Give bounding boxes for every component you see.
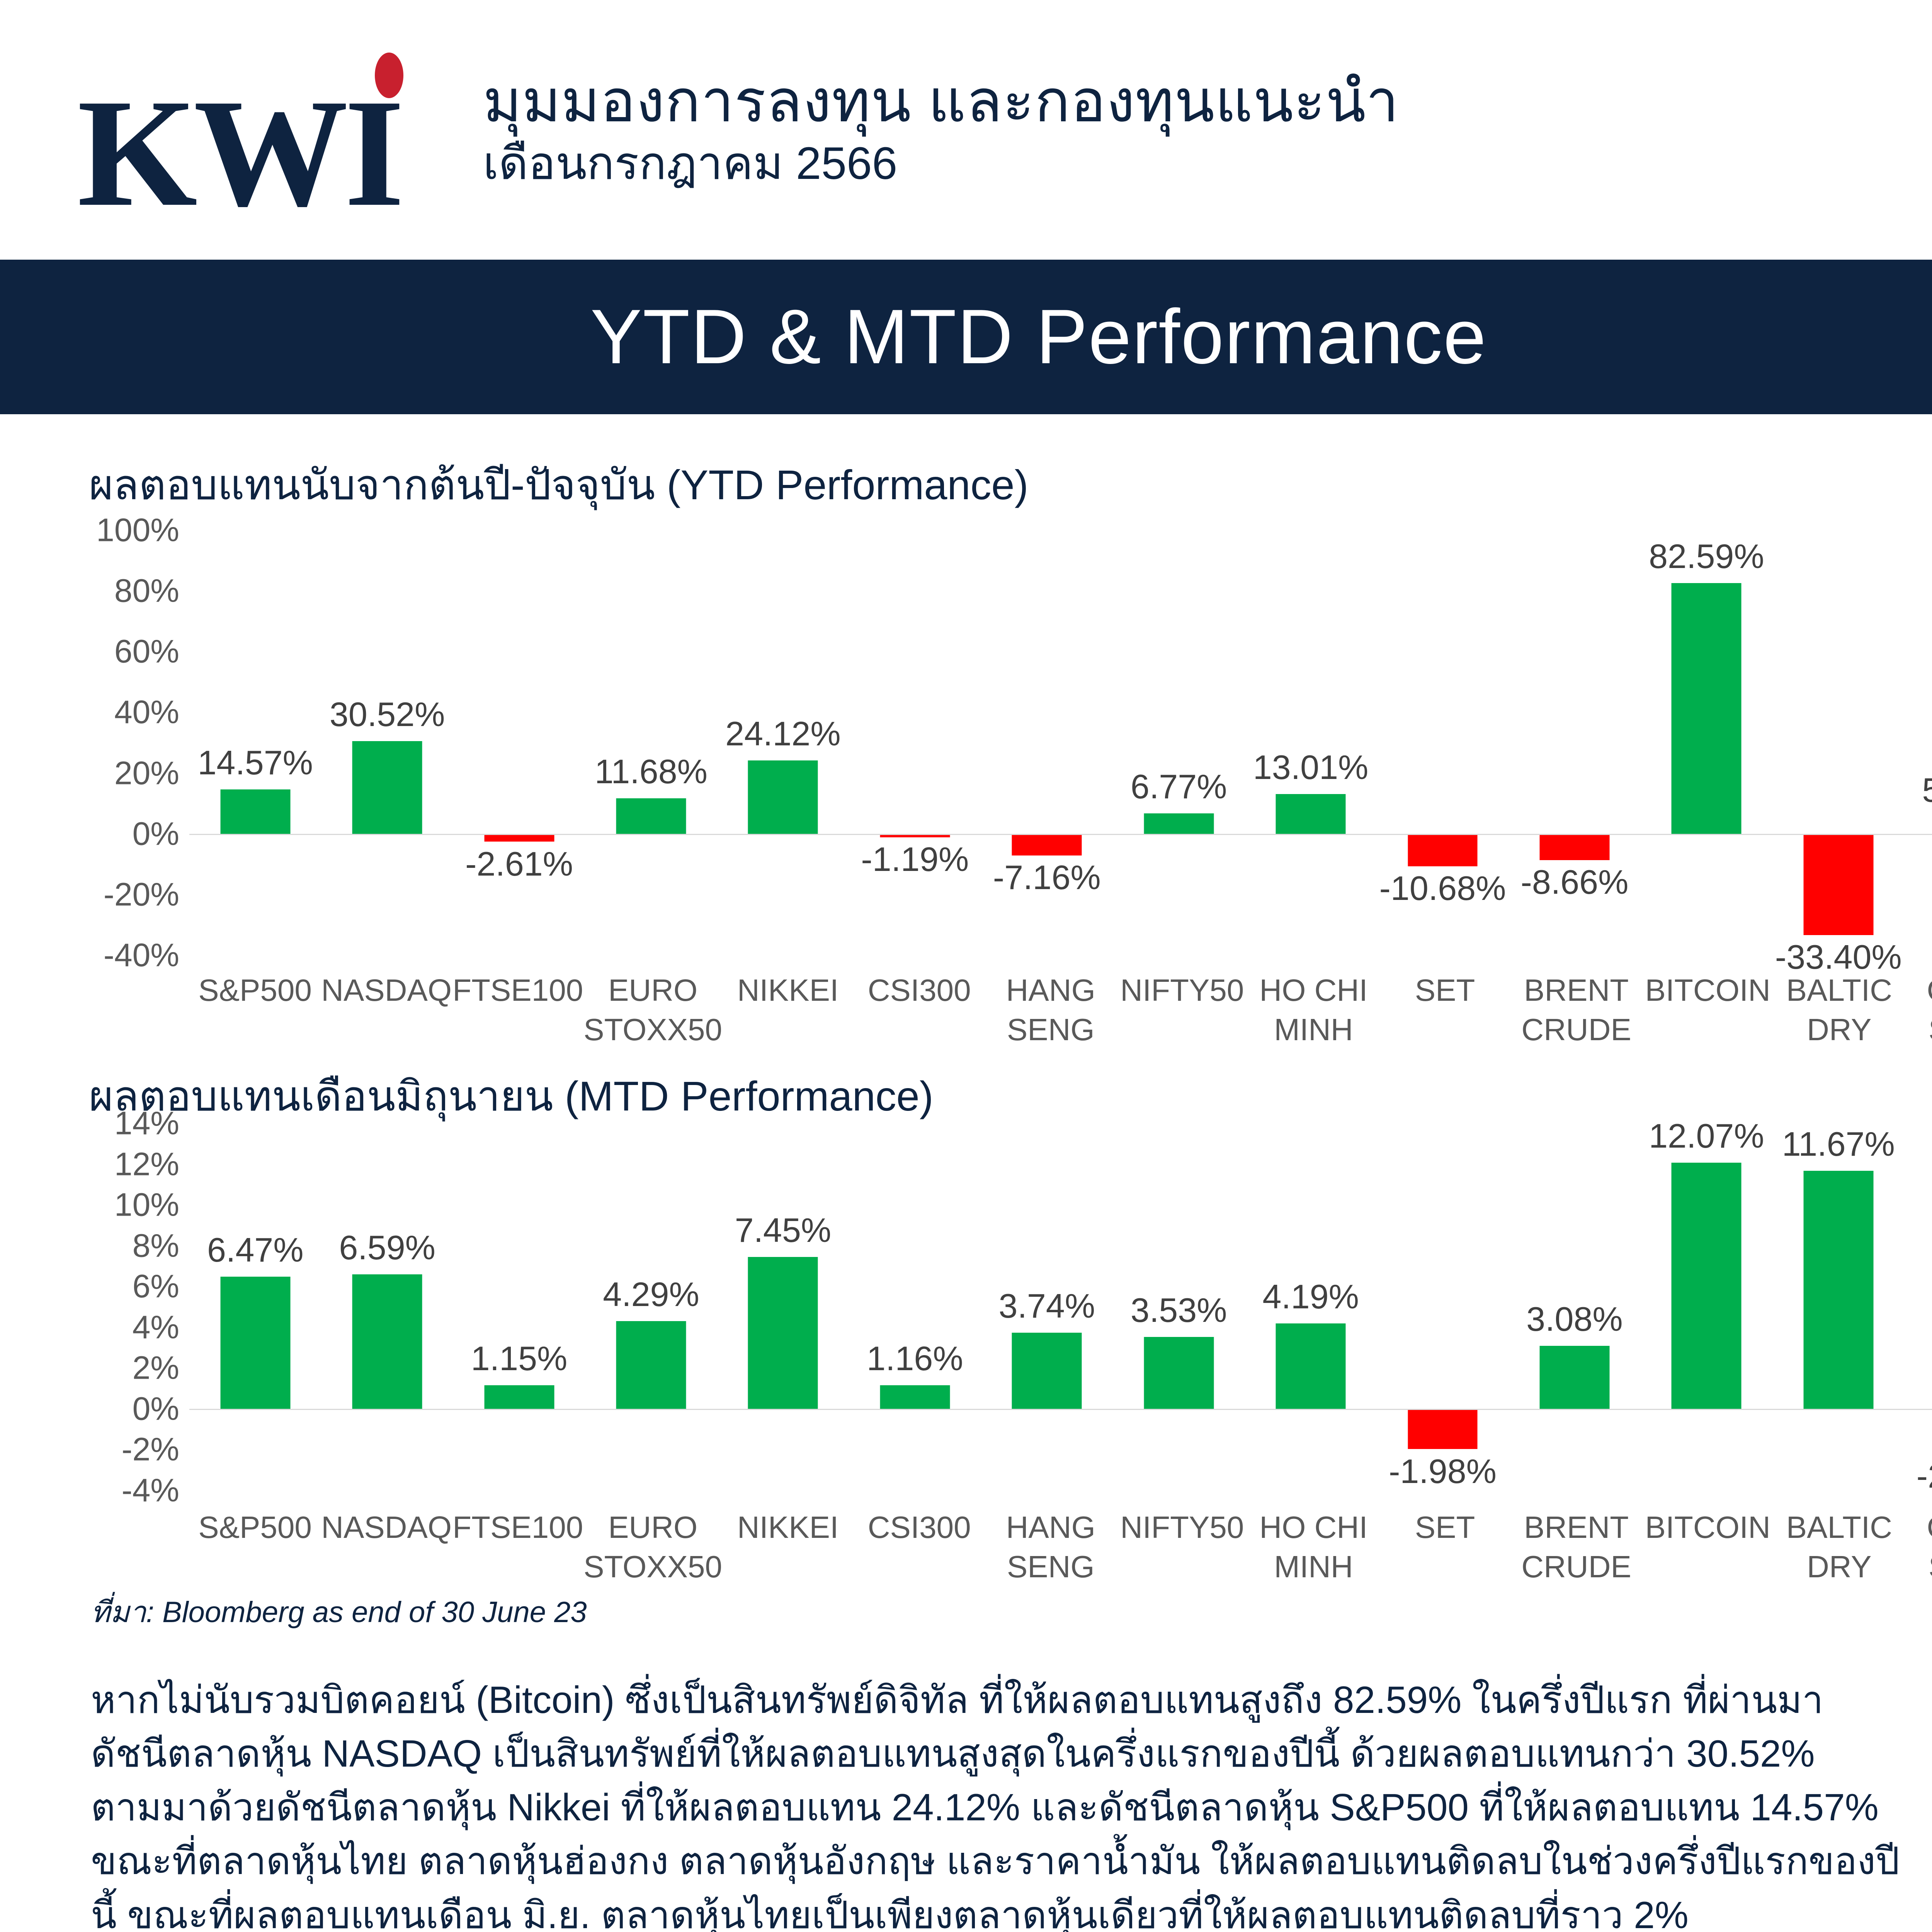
bar-column: -2.61%: [453, 530, 585, 955]
x-axis-category-label: GOLDSPOT: [1905, 971, 1932, 1050]
bar-column: 6.77%: [1113, 530, 1245, 955]
bar: [352, 1274, 422, 1409]
bar: [1408, 1409, 1478, 1449]
x-axis-category-label: SET: [1379, 971, 1510, 1050]
x-axis-category-label: EUROSTOXX50: [583, 971, 722, 1050]
x-axis-category-label: BRENTCRUDE: [1511, 971, 1642, 1050]
bar-value-label: 3.08%: [1526, 1299, 1623, 1339]
bar-value-label: -1.19%: [861, 840, 969, 879]
bar-column: 24.12%: [717, 530, 849, 955]
y-axis-tick: 20%: [114, 754, 189, 792]
bar-column: 7.45%: [717, 1123, 849, 1490]
bar-value-label: 12.07%: [1649, 1116, 1764, 1156]
y-axis-tick: 4%: [133, 1308, 189, 1346]
x-axis-category-label: BALTICDRY: [1774, 1508, 1905, 1587]
bar-column: -33.40%: [1772, 530, 1904, 955]
bar-value-label: -10.68%: [1379, 869, 1506, 908]
y-axis-tick: -4%: [122, 1472, 189, 1509]
bar-column: -8.66%: [1509, 530, 1640, 955]
y-axis-tick: -20%: [104, 876, 189, 913]
paragraph-line: ตามมาด้วยดัชนีตลาดหุ้น Nikkei ที่ให้ผลตอ…: [91, 1781, 1932, 1834]
bar-value-label: 4.29%: [603, 1275, 699, 1314]
bar-value-label: 13.01%: [1253, 748, 1368, 787]
bar: [1803, 834, 1873, 935]
bar-value-label: 11.68%: [595, 752, 707, 791]
bar: [880, 1385, 950, 1409]
bar-column: -7.16%: [981, 530, 1113, 955]
bar-column: -10.68%: [1377, 530, 1509, 955]
paragraph-line: ขณะที่ตลาดหุ้นไทย ตลาดหุ้นฮ่องกง ตลาดหุ้…: [91, 1834, 1932, 1888]
y-axis-tick: 0%: [133, 815, 189, 852]
bar-value-label: -2.21%: [1917, 1456, 1932, 1496]
x-axis-category-label: NIKKEI: [722, 1508, 854, 1587]
y-axis-tick: 6%: [133, 1268, 189, 1305]
bar-value-label: -2.61%: [465, 844, 573, 884]
y-axis-tick: 100%: [96, 512, 189, 549]
bar-column: 13.01%: [1245, 530, 1376, 955]
bar-value-label: 3.53%: [1131, 1291, 1227, 1330]
summary-paragraph: หากไม่นับรวมบิตคอยน์ (Bitcoin) ซึ่งเป็นส…: [91, 1673, 1932, 1932]
bar-column: 6.47%: [189, 1123, 321, 1490]
bar-value-label: 24.12%: [725, 714, 840, 753]
zero-axis-line: [189, 1409, 1932, 1410]
y-axis-tick: -2%: [122, 1431, 189, 1468]
x-axis-category-label: SET: [1379, 1508, 1510, 1587]
x-axis-category-label: NASDAQ: [321, 1508, 452, 1587]
bar-column: 11.68%: [585, 530, 717, 955]
header-title-block: มุมมองการลงทุน และกองทุนแนะนำ เดือนกรกฎา…: [475, 68, 1932, 191]
bar-column: 4.19%: [1245, 1123, 1376, 1490]
bar-value-label: 6.59%: [339, 1228, 435, 1267]
page-subtitle: เดือนกรกฎาคม 2566: [483, 136, 1932, 191]
page-title: มุมมองการลงทุน และกองทุนแนะนำ: [483, 68, 1932, 134]
bar: [748, 1257, 818, 1409]
bar: [1408, 834, 1478, 866]
bar-value-label: 6.47%: [207, 1230, 304, 1270]
y-axis-tick: 80%: [114, 572, 189, 610]
bar-column: 6.59%: [321, 1123, 453, 1490]
x-axis-category-label: S&P500: [189, 971, 321, 1050]
bar-column: -1.19%: [849, 530, 981, 955]
ytd-chart-section: ผลตอบแทนนับจากต้นปี-ปัจจุบัน (YTD Perfor…: [0, 414, 1932, 1044]
y-axis-tick: 12%: [114, 1145, 189, 1183]
ytd-x-axis: S&P500NASDAQFTSE100EUROSTOXX50NIKKEICSI3…: [189, 971, 1932, 1050]
x-axis-category-label: HANGSENG: [985, 1508, 1116, 1587]
logo-wordmark: KWI: [77, 76, 401, 230]
bar-column: 4.29%: [585, 1123, 717, 1490]
bar: [1803, 1171, 1873, 1409]
bar-column: -1.98%: [1377, 1123, 1509, 1490]
paragraph-line: ดัชนีตลาดหุ้น NASDAQ เป็นสินทรัพย์ที่ให้…: [91, 1727, 1932, 1781]
x-axis-category-label: NIFTY50: [1116, 971, 1248, 1050]
x-axis-category-label: HANGSENG: [985, 971, 1116, 1050]
bar: [484, 1385, 554, 1409]
y-axis-tick: 10%: [114, 1186, 189, 1224]
bar-value-label: 11.67%: [1782, 1124, 1895, 1164]
x-axis-category-label: S&P500: [189, 1508, 321, 1587]
y-axis-tick: 40%: [114, 694, 189, 731]
banner-title: YTD & MTD Performance: [590, 293, 1487, 381]
bar-value-label: 7.45%: [735, 1211, 832, 1250]
x-axis-category-label: BITCOIN: [1642, 971, 1774, 1050]
bar: [616, 798, 686, 834]
bar-column: 82.59%: [1641, 530, 1772, 955]
y-axis-tick: 60%: [114, 633, 189, 670]
bar: [1012, 834, 1082, 855]
bar-value-label: 3.74%: [998, 1286, 1095, 1326]
logo-dot-icon: [375, 53, 403, 98]
bar: [1672, 583, 1742, 834]
mtd-plot-area: 14%12%10%8%6%4%2%0%-2%-4% 6.47%6.59%1.15…: [189, 1123, 1932, 1490]
y-axis-tick: -40%: [104, 937, 189, 974]
bar-column: -2.21%: [1904, 1123, 1932, 1490]
bar-value-label: -7.16%: [993, 858, 1101, 897]
paragraph-line: หากไม่นับรวมบิตคอยน์ (Bitcoin) ซึ่งเป็นส…: [91, 1673, 1932, 1727]
mtd-chart-title: ผลตอบแทนเดือนมิถุนายน (MTD Performance): [89, 1063, 934, 1129]
bar: [220, 1277, 290, 1408]
ytd-chart-title: ผลตอบแทนนับจากต้นปี-ปัจจุบัน (YTD Perfor…: [89, 451, 1029, 518]
x-axis-category-label: FTSE100: [452, 1508, 583, 1587]
bar-value-label: -8.66%: [1521, 862, 1629, 902]
bar-column: 3.53%: [1113, 1123, 1245, 1490]
bar-value-label: 5.54%: [1922, 770, 1932, 810]
y-axis-tick: 14%: [114, 1105, 189, 1142]
source-note: ที่มา: Bloomberg as end of 30 June 23: [91, 1589, 587, 1635]
bar-column: 30.52%: [321, 530, 453, 955]
bar: [1144, 813, 1214, 834]
x-axis-category-label: FTSE100: [452, 971, 583, 1050]
bar-value-label: 30.52%: [330, 695, 445, 734]
ytd-bars: 14.57%30.52%-2.61%11.68%24.12%-1.19%-7.1…: [189, 530, 1932, 955]
page-header: KWI มุมมองการลงทุน และกองทุนแนะนำ เดือนก…: [0, 0, 1932, 260]
y-axis-tick: 0%: [133, 1390, 189, 1427]
bar: [1672, 1163, 1742, 1409]
bar: [1539, 834, 1609, 860]
mtd-chart-section: ผลตอบแทนเดือนมิถุนายน (MTD Performance) …: [0, 1044, 1932, 1581]
bar-column: 3.74%: [981, 1123, 1113, 1490]
bar: [616, 1321, 686, 1408]
x-axis-category-label: BALTICDRY: [1774, 971, 1905, 1050]
bar-column: 11.67%: [1772, 1123, 1904, 1490]
zero-axis-line: [189, 834, 1932, 835]
bar-column: 5.54%: [1904, 530, 1932, 955]
y-axis-tick: 8%: [133, 1227, 189, 1264]
x-axis-category-label: NASDAQ: [321, 971, 452, 1050]
bar-value-label: 82.59%: [1649, 537, 1764, 576]
bar-value-label: 1.15%: [471, 1339, 568, 1378]
bar: [1539, 1346, 1609, 1409]
x-axis-category-label: CSI300: [854, 1508, 985, 1587]
bar-value-label: 4.19%: [1262, 1277, 1359, 1316]
bar-value-label: 1.16%: [867, 1339, 963, 1378]
bar: [220, 789, 290, 833]
section-banner: YTD & MTD Performance: [0, 260, 1932, 414]
x-axis-category-label: EUROSTOXX50: [583, 1508, 722, 1587]
x-axis-category-label: NIFTY50: [1116, 1508, 1248, 1587]
ytd-plot-area: 100%80%60%40%20%0%-20%-40% 14.57%30.52%-…: [189, 530, 1932, 955]
x-axis-category-label: BITCOIN: [1642, 1508, 1774, 1587]
mtd-x-axis: S&P500NASDAQFTSE100EUROSTOXX50NIKKEICSI3…: [189, 1508, 1932, 1587]
x-axis-category-label: NIKKEI: [722, 971, 854, 1050]
bar: [1276, 1323, 1346, 1409]
x-axis-category-label: BRENTCRUDE: [1511, 1508, 1642, 1587]
bar: [1012, 1333, 1082, 1409]
bar: [1144, 1337, 1214, 1409]
infographic-page: KWI มุมมองการลงทุน และกองทุนแนะนำ เดือนก…: [0, 0, 1932, 1932]
x-axis-category-label: GOLDSPOT: [1905, 1508, 1932, 1587]
bar-column: 3.08%: [1509, 1123, 1640, 1490]
paragraph-line: นี้ ขณะที่ผลตอบแทนเดือน มิ.ย. ตลาดหุ้นไท…: [91, 1888, 1932, 1932]
x-axis-category-label: HO CHIMINH: [1248, 971, 1379, 1050]
bar: [748, 760, 818, 834]
x-axis-category-label: HO CHIMINH: [1248, 1508, 1379, 1587]
y-axis-tick: 2%: [133, 1349, 189, 1387]
bar-column: 12.07%: [1641, 1123, 1772, 1490]
bar: [1276, 794, 1346, 833]
bar: [484, 834, 554, 842]
bar-column: 1.15%: [453, 1123, 585, 1490]
bar-column: 1.16%: [849, 1123, 981, 1490]
x-axis-category-label: CSI300: [854, 971, 985, 1050]
bar-value-label: 6.77%: [1131, 767, 1227, 806]
bar-value-label: 14.57%: [197, 743, 313, 782]
kwi-logo: KWI: [66, 22, 475, 238]
bar-value-label: -1.98%: [1389, 1452, 1497, 1491]
bar-column: 14.57%: [189, 530, 321, 955]
bar: [352, 741, 422, 834]
mtd-bars: 6.47%6.59%1.15%4.29%7.45%1.16%3.74%3.53%…: [189, 1123, 1932, 1490]
